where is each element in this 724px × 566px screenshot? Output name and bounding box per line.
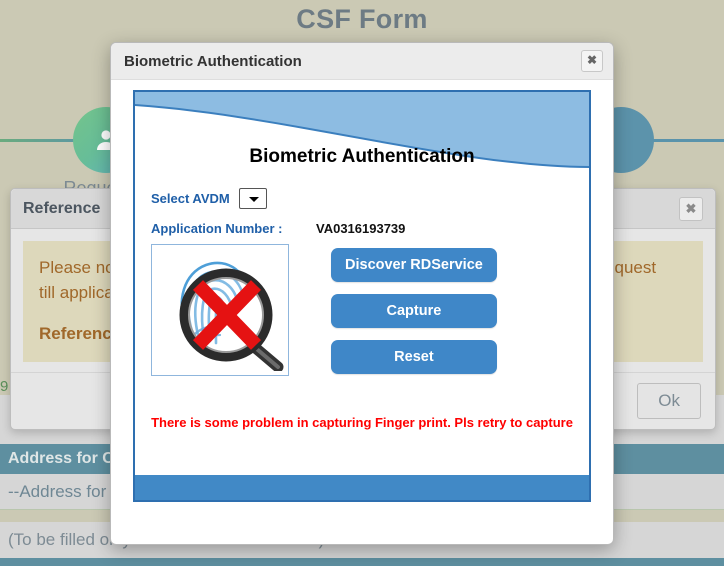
panel-footer-band	[135, 475, 589, 500]
header-swoosh-decoration	[135, 92, 589, 188]
biometric-heading: Biometric Authentication	[135, 146, 589, 168]
reset-button[interactable]: Reset	[331, 340, 497, 374]
biometric-panel: Biometric Authentication Select AVDM App…	[133, 90, 591, 502]
biometric-button-group: Discover RDService Capture Reset	[331, 244, 497, 376]
avdm-select[interactable]	[239, 188, 267, 209]
discover-rdservice-button[interactable]: Discover RDService	[331, 248, 497, 282]
close-icon[interactable]: ✖	[679, 197, 703, 221]
close-icon[interactable]: ✖	[581, 50, 603, 72]
application-number-value: VA0316193739	[316, 221, 405, 236]
biometric-authentication-modal: Biometric Authentication ✖ Biometric Aut…	[110, 42, 614, 545]
reference-dialog-title: Reference	[23, 200, 100, 218]
avdm-label: Select AVDM	[151, 191, 230, 206]
biometric-capture-area: Discover RDService Capture Reset	[151, 244, 577, 376]
modal-title: Biometric Authentication	[124, 53, 302, 70]
reference-ok-button[interactable]: Ok	[637, 383, 701, 419]
modal-body: Biometric Authentication Select AVDM App…	[111, 80, 613, 522]
modal-header: Biometric Authentication ✖	[111, 43, 613, 80]
fingerprint-error-icon	[156, 249, 284, 371]
page-title: CSF Form	[0, 4, 724, 35]
fingerprint-preview-box	[151, 244, 289, 376]
biometric-form: Select AVDM Application Number : VA03161…	[151, 188, 579, 246]
avdm-row: Select AVDM	[151, 188, 579, 209]
application-number-label: Application Number :	[151, 221, 316, 236]
capture-button[interactable]: Capture	[331, 294, 497, 328]
bottom-band	[0, 558, 724, 566]
biometric-error-message: There is some problem in capturing Finge…	[151, 414, 573, 432]
application-number-row: Application Number : VA0316193739	[151, 221, 579, 236]
